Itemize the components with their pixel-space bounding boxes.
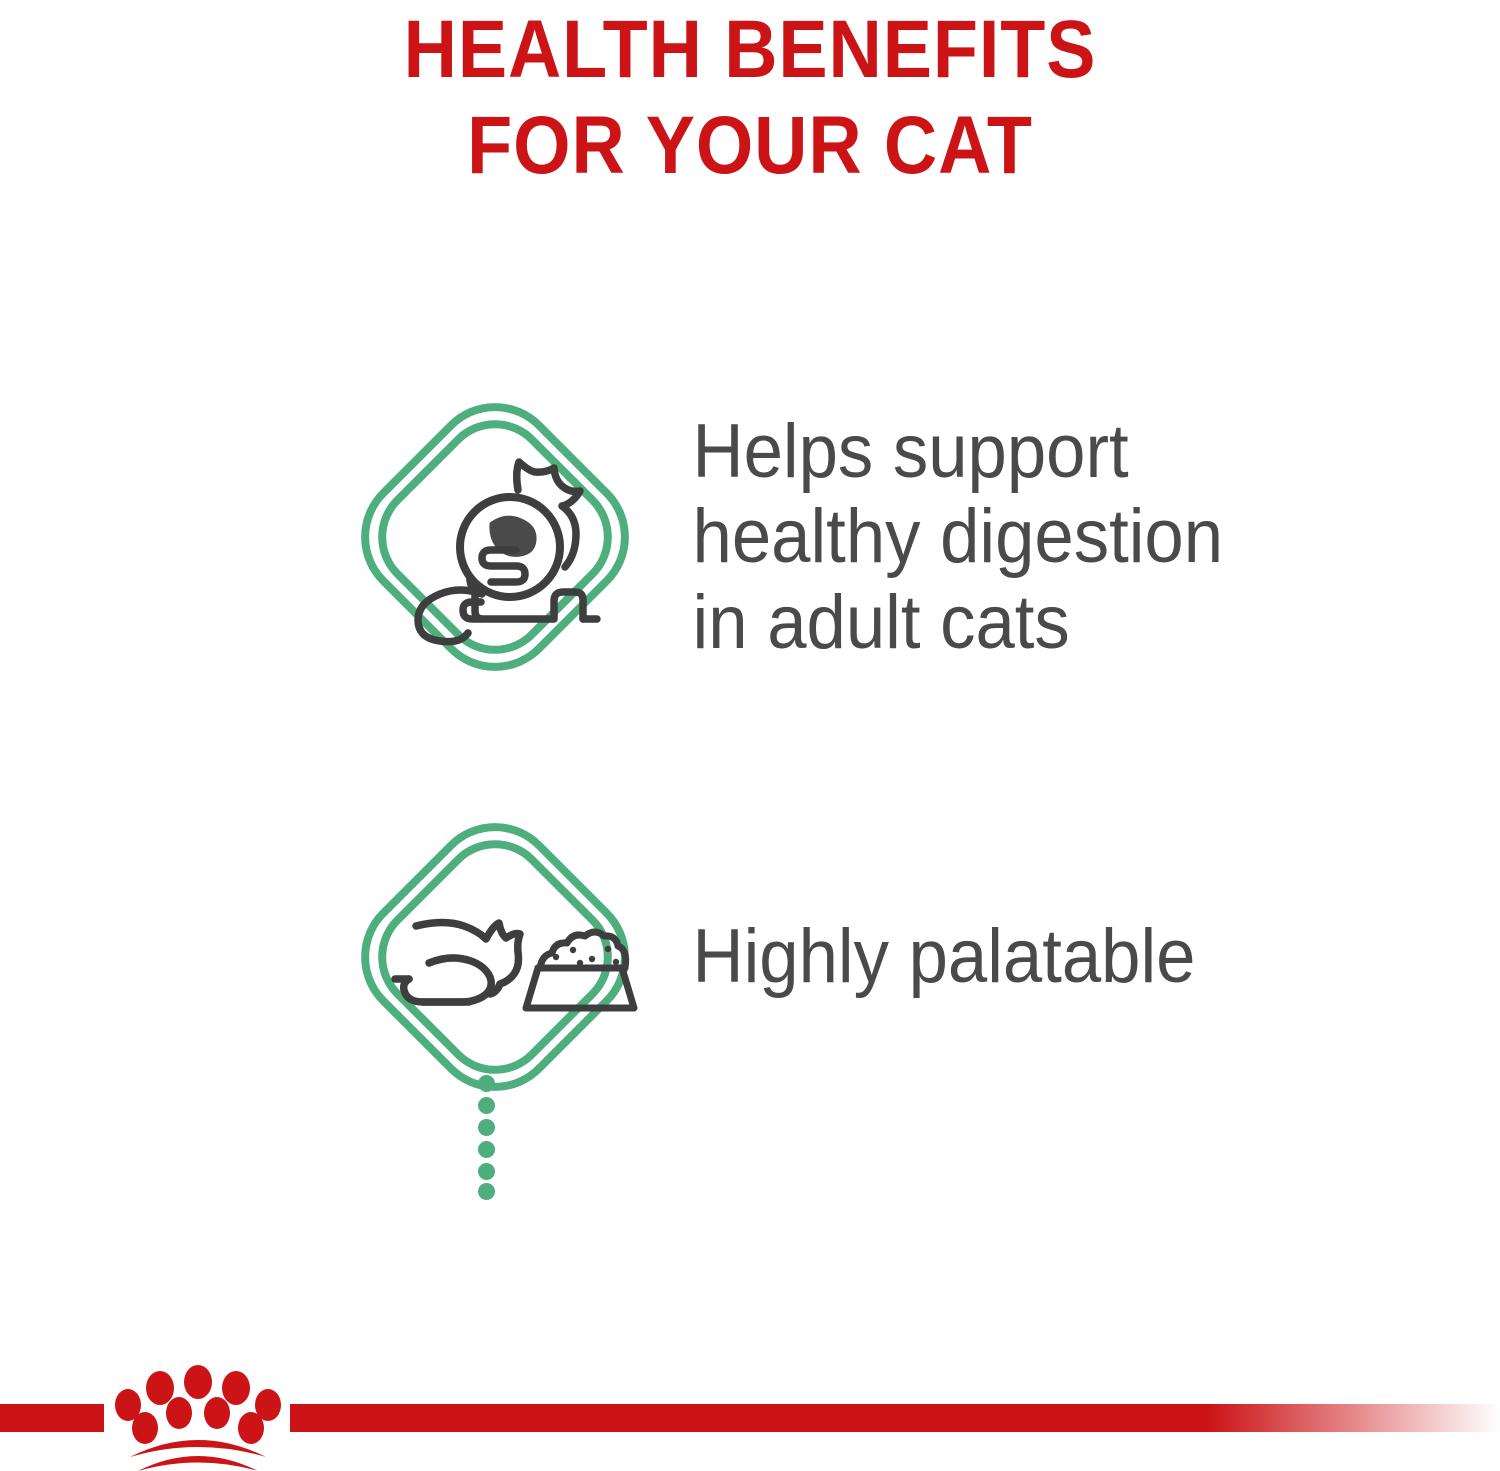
benefit-text-digestion: Helps support healthy digestion in adult…: [660, 409, 1423, 664]
benefit-item-palatable: Highly palatable: [330, 792, 1480, 1122]
connector-dot: [478, 1163, 495, 1180]
dotted-connector: [478, 1075, 502, 1200]
royal-canin-crown-logo: [115, 1365, 281, 1471]
title-line-2: FOR YOUR CAT: [75, 98, 1425, 194]
page-title: HEALTH BENEFITS FOR YOUR CAT: [0, 0, 1500, 194]
cat-eating-bowl-icon: [330, 792, 660, 1122]
brand-bar-left: [0, 1404, 104, 1432]
connector-dot: [478, 1075, 495, 1092]
connector-dot: [478, 1141, 495, 1158]
brand-bar-right: [290, 1404, 1500, 1432]
connector-dot: [478, 1183, 495, 1200]
benefit-item-digestion: Helps support healthy digestion in adult…: [330, 372, 1480, 702]
title-line-1: HEALTH BENEFITS: [75, 2, 1425, 98]
connector-dot: [478, 1097, 495, 1114]
footer-brand-bar: [0, 1361, 1500, 1471]
cat-digestion-icon: [330, 372, 660, 702]
benefit-text-palatable: Highly palatable: [660, 914, 1423, 999]
connector-dot: [478, 1119, 495, 1136]
